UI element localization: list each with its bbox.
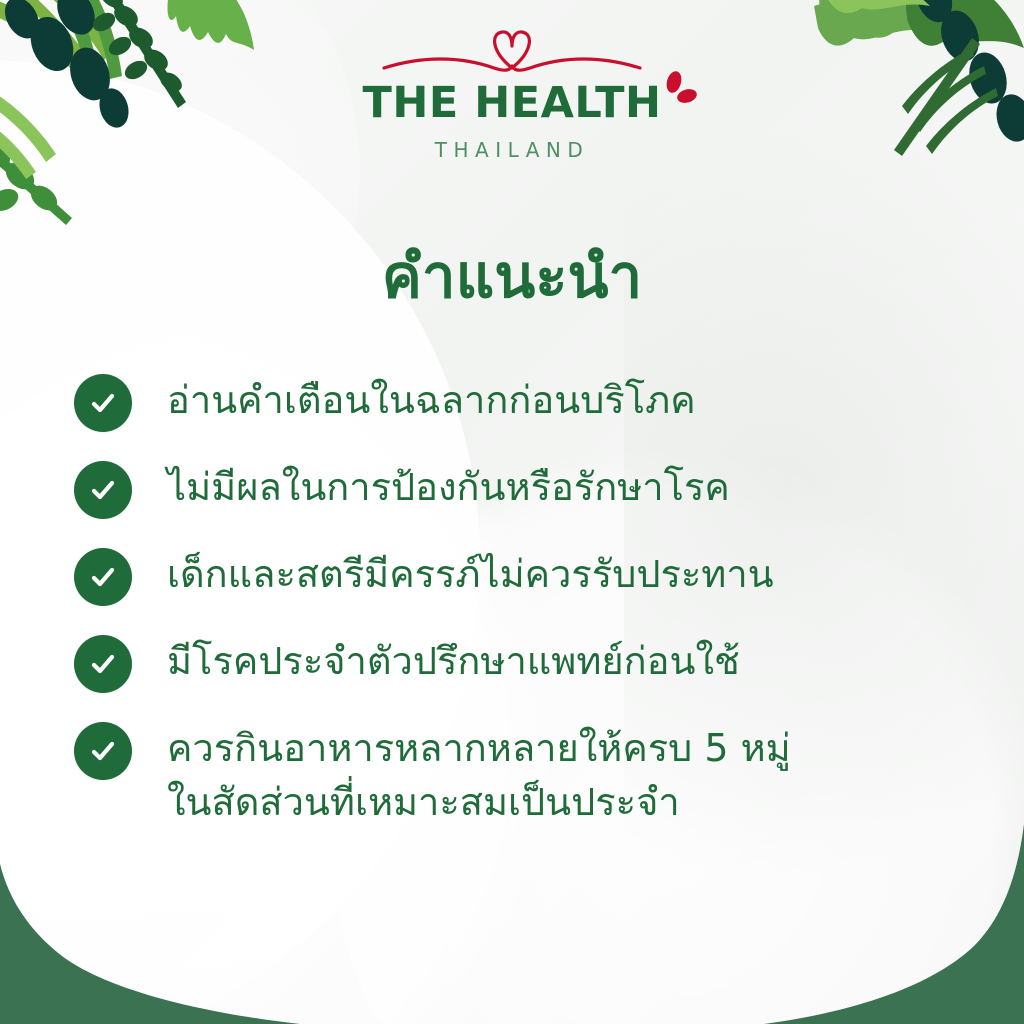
list-item-line: มีโรคประจำตัวปรึกษาแพทย์ก่อนใช้ <box>167 635 740 689</box>
poster-canvas: THE HEALTH THAILAND คำแนะนำ อ่านคำเตือนใ… <box>0 0 1024 1024</box>
check-circle-icon <box>74 374 132 432</box>
list-item-text: เด็กและสตรีมีครรภ์ไม่ควรรับประทาน <box>167 546 774 602</box>
green-corner-bottom-right <box>764 824 1024 1024</box>
list-item-line: ไม่มีผลในการป้องกันหรือรักษาโรค <box>167 461 730 515</box>
logo-wordmark: THE HEALTH <box>363 82 662 125</box>
list-item: ไม่มีผลในการป้องกันหรือรักษาโรค <box>74 459 984 519</box>
list-item-text: มีโรคประจำตัวปรึกษาแพทย์ก่อนใช้ <box>167 633 740 689</box>
check-circle-icon <box>74 635 132 693</box>
check-circle-icon <box>74 461 132 519</box>
list-item-text: ควรกินอาหารหลากหลายให้ครบ 5 หมู่ ในสัดส่… <box>167 720 791 830</box>
check-circle-icon <box>74 722 132 780</box>
list-item: มีโรคประจำตัวปรึกษาแพทย์ก่อนใช้ <box>74 633 984 693</box>
list-item-text: อ่านคำเตือนในฉลากก่อนบริโภค <box>167 372 696 428</box>
logo-tagline: THAILAND <box>0 138 1024 162</box>
page-title: คำแนะนำ <box>0 244 1024 310</box>
green-corner-bottom-left <box>0 864 300 1024</box>
list-item-line: ในสัดส่วนที่เหมาะสมเป็นประจำ <box>167 776 791 830</box>
check-circle-icon <box>74 548 132 606</box>
list-item: เด็กและสตรีมีครรภ์ไม่ควรรับประทาน <box>74 546 984 606</box>
brand-logo: THE HEALTH THAILAND <box>0 28 1024 162</box>
list-item: ควรกินอาหารหลากหลายให้ครบ 5 หมู่ ในสัดส่… <box>74 720 984 830</box>
list-item-text: ไม่มีผลในการป้องกันหรือรักษาโรค <box>167 459 730 515</box>
recommendations-list: อ่านคำเตือนในฉลากก่อนบริโภค ไม่มีผลในการ… <box>74 372 984 830</box>
red-petals-icon <box>663 70 697 110</box>
list-item-line: ควรกินอาหารหลากหลายให้ครบ 5 หมู่ <box>167 722 791 776</box>
list-item-line: อ่านคำเตือนในฉลากก่อนบริโภค <box>167 374 696 428</box>
list-item: อ่านคำเตือนในฉลากก่อนบริโภค <box>74 372 984 432</box>
list-item-line: เด็กและสตรีมีครรภ์ไม่ควรรับประทาน <box>167 548 774 602</box>
